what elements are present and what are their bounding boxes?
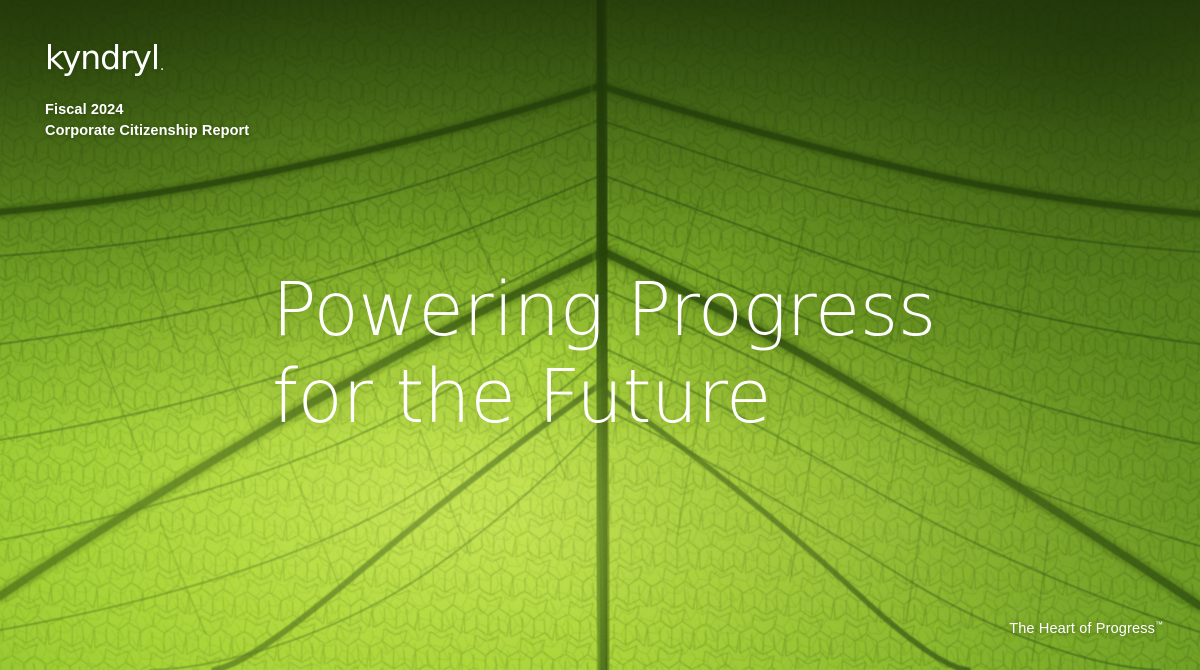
fiscal-year-label: Fiscal 2024 (45, 100, 249, 121)
tagline-trademark-icon: ™ (1155, 620, 1163, 629)
cover-content: kyndryl. Fiscal 2024 Corporate Citizensh… (0, 0, 1200, 670)
kyndryl-wordmark: kyndryl. (45, 41, 163, 74)
report-cover-page: kyndryl. Fiscal 2024 Corporate Citizensh… (0, 0, 1200, 670)
logo-trademark-dot: . (160, 58, 164, 74)
logo-text: kyndryl (45, 38, 159, 77)
page-title-line-1: Powering Progress (272, 267, 936, 354)
page-title: Powering Progress for the Future (272, 267, 936, 440)
page-title-line-2: for the Future (272, 354, 936, 441)
brand-tagline: The Heart of Progress™ (1009, 620, 1163, 637)
tagline-text: The Heart of Progress (1009, 621, 1155, 637)
kyndryl-logo: kyndryl. (45, 41, 163, 74)
report-title-label: Corporate Citizenship Report (45, 121, 249, 142)
report-identifier: Fiscal 2024 Corporate Citizenship Report (45, 100, 249, 142)
